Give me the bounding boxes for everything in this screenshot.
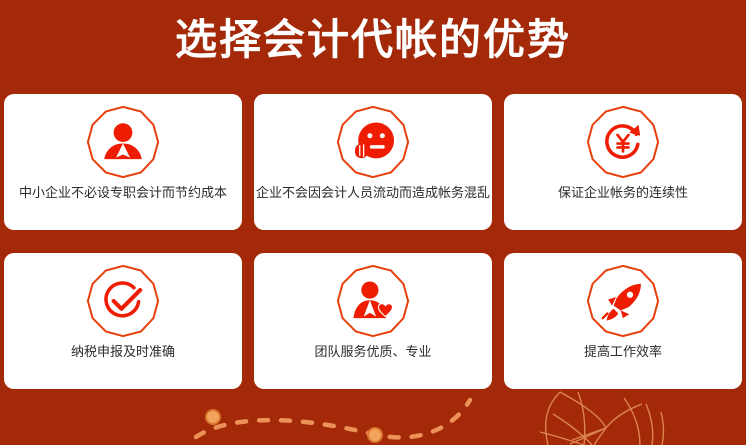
benefits-grid: 中小企业不必设专职会计而节约成本 企业不会因会计人员流动而造成帐务混乱 xyxy=(4,94,742,389)
path-marker-dot xyxy=(206,410,220,424)
benefit-card[interactable]: 提高工作效率 xyxy=(504,253,742,389)
benefit-card-label: 纳税申报及时准确 xyxy=(71,344,175,362)
page-title: 选择会计代帐的优势 xyxy=(0,14,746,66)
benefit-card[interactable]: 团队服务优质、专业 xyxy=(254,253,492,389)
line-art-decoration xyxy=(540,392,663,445)
person-icon xyxy=(84,103,162,181)
person-heart-icon xyxy=(334,262,412,340)
benefit-card-label: 保证企业帐务的连续性 xyxy=(558,185,688,203)
benefit-card[interactable]: 保证企业帐务的连续性 xyxy=(504,94,742,230)
benefit-card[interactable]: 中小企业不必设专职会计而节约成本 xyxy=(4,94,242,230)
smiley-face-with-hand-icon xyxy=(334,103,412,181)
path-marker-dot xyxy=(368,428,382,442)
page-title-text: 选择会计代帐的优势 xyxy=(175,14,571,66)
benefit-card-label: 提高工作效率 xyxy=(584,344,662,362)
rocket-icon xyxy=(584,262,662,340)
benefit-card[interactable]: 企业不会因会计人员流动而造成帐务混乱 xyxy=(254,94,492,230)
benefit-card-label: 团队服务优质、专业 xyxy=(314,344,431,362)
dashed-path xyxy=(196,400,470,437)
benefit-card-label: 中小企业不必设专职会计而节约成本 xyxy=(19,185,227,203)
benefit-card[interactable]: 纳税申报及时准确 xyxy=(4,253,242,389)
benefit-card-label: 企业不会因会计人员流动而造成帐务混乱 xyxy=(256,185,490,203)
yuan-refresh-icon xyxy=(584,103,662,181)
check-circle-icon xyxy=(84,262,162,340)
promo-poster: 选择会计代帐的优势 中小企业不必设专职会计而节约成本 xyxy=(0,0,746,445)
